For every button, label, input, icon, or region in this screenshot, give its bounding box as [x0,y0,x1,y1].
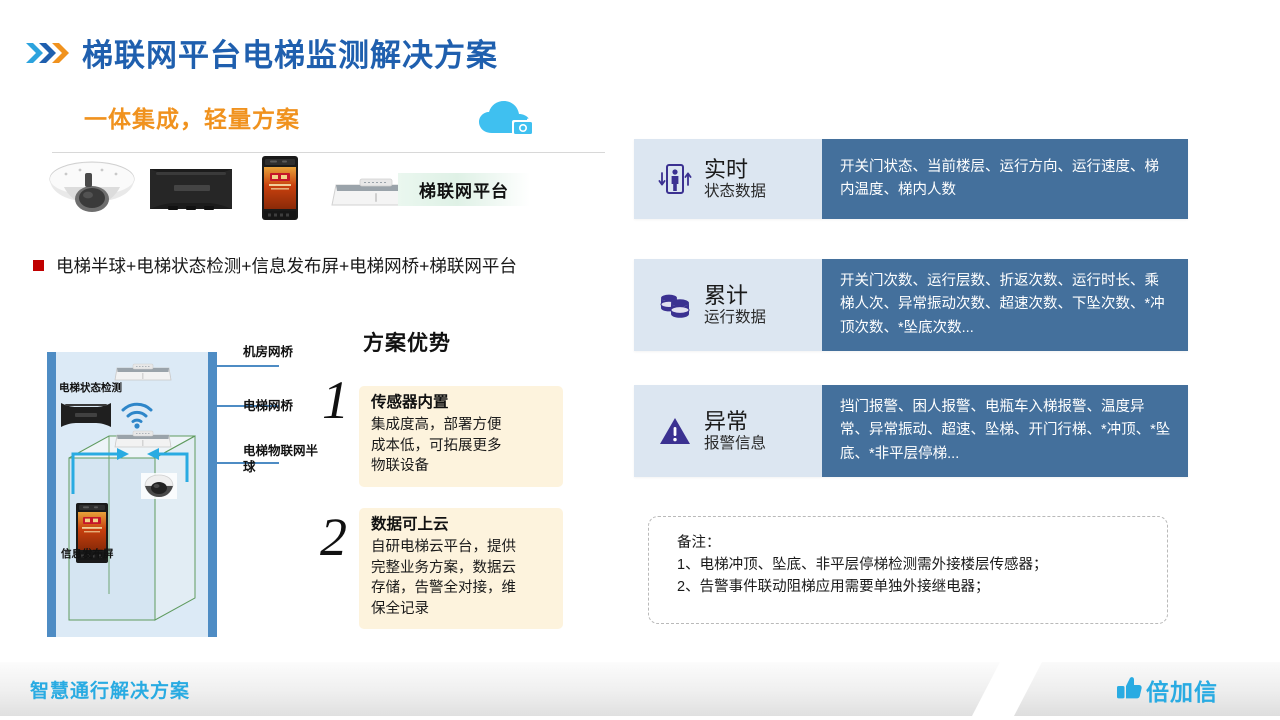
bullet-row: 电梯半球+电梯状态检测+信息发布屏+电梯网桥+梯联网平台 [33,253,517,278]
data-card-cumulative-subtitle: 运行数据 [704,309,766,326]
notes-heading: 备注： [677,533,1167,555]
subtitle-text: 一体集成，轻量方案 [84,100,300,134]
status-detector-diagram-image [58,399,114,431]
data-card-cumulative-titles: 累计 运行数据 [704,284,766,326]
data-card-realtime-subtitle: 状态数据 [704,183,766,200]
dome-camera-image [44,159,140,224]
divider [52,152,605,153]
data-card-alarm-head: 异常 报警信息 [634,385,822,477]
advantage-body-1-line-1: 集成度高，部署方便 [371,415,551,436]
wifi-signal-icon [119,398,155,430]
callout-elevator-bridge: 电梯网桥 [243,398,293,414]
data-card-realtime-title: 实时 [704,158,766,183]
data-card-cumulative-title: 累计 [704,284,766,309]
bullet-square-icon [33,260,44,271]
page-title-text: 梯联网平台电梯监测解决方案 [82,30,498,75]
warning-triangle-icon [656,415,694,447]
data-card-alarm-body: 挡门报警、困人报警、电瓶车入梯报警、温度异常、异常振动、超速、坠梯、开门行梯、*… [822,385,1188,477]
brand-name: 倍加信 [1146,673,1218,707]
footer-bar: 智慧通行解决方案 倍加信 [0,657,1280,720]
advantages-title: 方案优势 [363,327,451,357]
advantage-body-2-line-1: 自研电梯云平台，提供 [371,537,551,558]
data-card-alarm: 异常 报警信息 挡门报警、困人报警、电瓶车入梯报警、温度异常、异常振动、超速、坠… [634,385,1188,477]
shaft-rail-right [208,352,217,637]
brand-logo: 倍加信 [1115,673,1218,707]
data-card-cumulative-body: 开关门次数、运行层数、折返次数、运行时长、乘梯人次、异常振动次数、超速次数、下坠… [822,259,1188,351]
shaft-rail-left [47,352,56,637]
status-detector-image [146,163,236,220]
data-card-realtime-body-text: 开关门状态、当前楼层、运行方向、运行速度、梯内温度、梯内人数 [840,156,1172,203]
callout-machine-room-bridge: 机房网桥 [243,344,293,360]
advantage-body-2-line-4: 保全记录 [371,599,551,620]
notes-box: 备注： 1、电梯冲顶、坠底、非平层停梯检测需外接楼层传感器； 2、告警事件联动阻… [648,516,1168,624]
advantage-box-2: 数据可上云 自研电梯云平台，提供 完整业务方案，数据云 存储，告警全对接，维 保… [359,508,563,629]
data-card-cumulative: 累计 运行数据 开关门次数、运行层数、折返次数、运行时长、乘梯人次、异常振动次数… [634,259,1188,351]
footer-left-text: 智慧通行解决方案 [30,676,190,703]
advantage-body-1-line-2: 成本低，可拓展更多 [371,436,551,457]
data-card-realtime-body: 开关门状态、当前楼层、运行方向、运行速度、梯内温度、梯内人数 [822,139,1188,219]
machine-room-bridge-image [113,362,173,384]
advantage-heading-1: 传感器内置 [371,393,551,414]
iot-dome-image [141,473,177,499]
database-icon [656,290,694,320]
platform-chip-label: 梯联网平台 [419,177,509,202]
data-card-alarm-subtitle: 报警信息 [704,435,766,452]
label-info-screen: 信息发布屏 [61,548,114,561]
data-card-alarm-title: 异常 [704,410,766,435]
elevator-diagram: 电梯状态检测 信息发布屏 [47,352,217,637]
advantage-body-2-line-3: 存储，告警全对接，维 [371,578,551,599]
notes-line-1: 1、电梯冲顶、坠底、非平层停梯检测需外接楼层传感器； [677,555,1167,577]
chevron-triple-icon [24,40,70,66]
cloud-camera-icon [476,100,538,145]
label-status-detect: 电梯状态检测 [59,382,122,395]
advantage-number-1: 1 [322,373,349,427]
bullet-text: 电梯半球+电梯状态检测+信息发布屏+电梯网桥+梯联网平台 [56,253,517,278]
connection-arrow-left [67,438,137,498]
platform-chip: 梯联网平台 [398,173,530,206]
advantage-heading-2: 数据可上云 [371,515,551,536]
data-card-cumulative-body-text: 开关门次数、运行层数、折返次数、运行时长、乘梯人次、异常振动次数、超速次数、下坠… [840,270,1172,340]
page-title: 梯联网平台电梯监测解决方案 [24,30,498,75]
data-card-cumulative-head: 累计 运行数据 [634,259,822,351]
notes-line-2: 2、告警事件联动阻梯应用需要单独外接继电器； [677,577,1167,599]
data-card-alarm-titles: 异常 报警信息 [704,410,766,452]
advantage-body-2-line-2: 完整业务方案，数据云 [371,558,551,579]
advantage-body-1-line-3: 物联设备 [371,456,551,477]
data-card-realtime-head: 实时 状态数据 [634,139,822,219]
data-card-realtime-titles: 实时 状态数据 [704,158,766,200]
advantage-box-1: 传感器内置 集成度高，部署方便 成本低，可拓展更多 物联设备 [359,386,563,487]
info-display-image [260,155,300,226]
thumbs-up-icon [1115,675,1143,706]
slide-canvas: 梯联网平台电梯监测解决方案 一体集成，轻量方案 [0,0,1280,720]
callout-iot-dome: 电梯物联网半球 [243,443,323,476]
leader-line-1 [217,365,279,367]
data-card-realtime: 实时 状态数据 开关门状态、当前楼层、运行方向、运行速度、梯内温度、梯内人数 [634,139,1188,219]
advantage-number-2: 2 [320,510,347,564]
elevator-person-icon [656,162,694,196]
data-card-alarm-body-text: 挡门报警、困人报警、电瓶车入梯报警、温度异常、异常振动、超速、坠梯、开门行梯、*… [840,396,1172,466]
